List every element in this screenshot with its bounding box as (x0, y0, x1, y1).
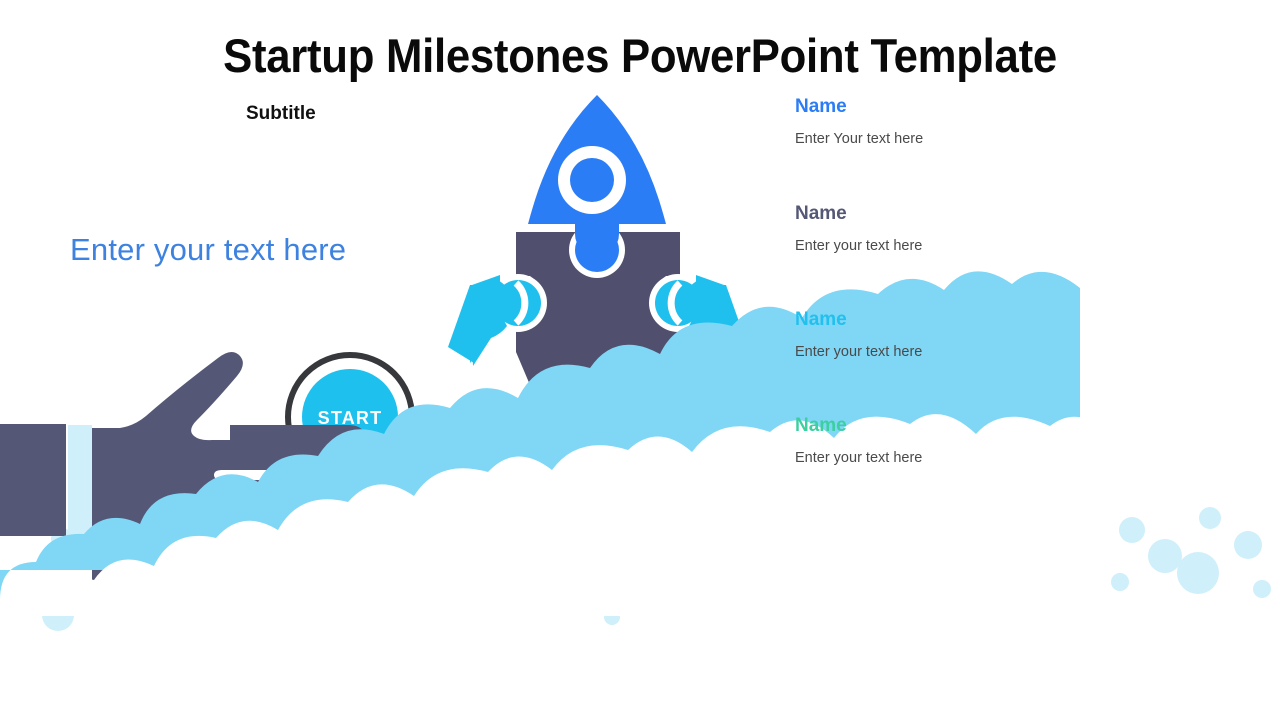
left-placeholder-text: Enter your text here (70, 232, 346, 268)
milestone-item[interactable]: Name Enter your text here (795, 309, 1125, 361)
hand-shape (92, 352, 342, 587)
milestone-item[interactable]: Name Enter Your text here (795, 96, 1125, 148)
slide-subtitle: Subtitle (246, 103, 316, 125)
start-button-ring (288, 355, 412, 479)
index-finger (230, 425, 366, 454)
sleeve (0, 424, 66, 536)
start-button-label: START (318, 408, 383, 428)
rocket-seams (516, 283, 680, 323)
bubble-group (42, 476, 1271, 631)
milestone-name: Name (795, 96, 1125, 118)
rocket-body (489, 222, 707, 385)
milestone-description: Enter Your text here (795, 118, 1125, 148)
milestone-name: Name (795, 309, 1125, 331)
slide-canvas: Startup Milestones PowerPoint Template S… (0, 0, 1280, 720)
rocket-nose-cone (516, 95, 680, 256)
milestone-name: Name (795, 203, 1125, 225)
cuff (68, 425, 92, 535)
page-title: Startup Milestones PowerPoint Template (45, 28, 1235, 83)
rocket-engine (560, 353, 642, 398)
cloud-base (0, 672, 1280, 720)
rocket-fin-left (448, 275, 511, 366)
milestone-description: Enter your text here (795, 331, 1125, 361)
rocket-flame-icon (553, 381, 661, 505)
rocket-window-icon (558, 146, 626, 214)
milestone-item[interactable]: Name Enter your text here (795, 203, 1125, 255)
milestone-name: Name (795, 415, 1125, 437)
milestone-description: Enter your text here (795, 225, 1125, 255)
milestone-item[interactable]: Name Enter your text here (795, 415, 1125, 467)
milestone-description: Enter your text here (795, 437, 1125, 467)
start-button-fill (302, 369, 398, 465)
rocket-fin-right (685, 275, 748, 366)
